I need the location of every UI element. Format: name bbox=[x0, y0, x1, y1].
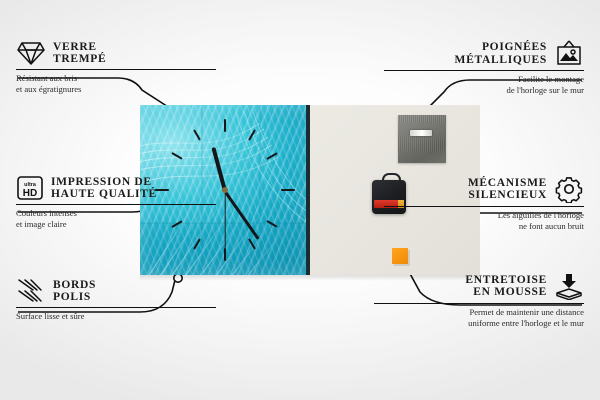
feature-title-line1: POIGNÉES bbox=[455, 41, 547, 54]
feature-title-line2: SILENCIEUX bbox=[468, 189, 547, 202]
feature-rule bbox=[16, 69, 216, 70]
feature-subtitle-line2: ne font aucun bruit bbox=[384, 221, 584, 231]
hour-marker-12 bbox=[224, 119, 226, 132]
feature-title-line2: EN MOUSSE bbox=[465, 286, 547, 299]
hour-marker-3 bbox=[281, 189, 295, 191]
feature-impression-haute-qualite: ultra HD IMPRESSION DE HAUTE QUALITÉ Cou… bbox=[16, 175, 216, 229]
feature-title-line2: MÉTALLIQUES bbox=[455, 54, 547, 67]
hanging-picture-frame-icon bbox=[554, 40, 584, 67]
feature-title-line1: VERRE bbox=[53, 41, 106, 54]
feature-title-line1: MÉCANISME bbox=[468, 177, 547, 190]
hanger-keyhole-slot bbox=[410, 130, 432, 136]
feature-subtitle-line1: Permet de maintenir une distance bbox=[374, 307, 584, 317]
feature-title-line2: TREMPÉ bbox=[53, 53, 106, 66]
feature-subtitle-line2: de l'horloge sur le mur bbox=[384, 85, 584, 95]
ultra-hd-badge-bottom: HD bbox=[23, 188, 37, 199]
feature-mecanisme-silencieux: MÉCANISME SILENCIEUX Les aiguilles de l'… bbox=[384, 175, 584, 231]
feature-title-line1: BORDS bbox=[53, 279, 96, 292]
feature-rule bbox=[374, 303, 584, 304]
feature-rule bbox=[384, 70, 584, 71]
feature-bords-polis: BORDS POLIS Surface lisse et sûre bbox=[16, 278, 216, 322]
metal-hanger-plate bbox=[398, 115, 446, 163]
feature-entretoise-en-mousse: ENTRETOISE EN MOUSSE Permet de maintenir… bbox=[374, 272, 584, 328]
feature-poignees-metalliques: POIGNÉES MÉTALLIQUES Facilite le montage… bbox=[384, 40, 584, 95]
feature-subtitle-line1: Facilite le montage bbox=[384, 74, 584, 84]
feature-rule bbox=[16, 307, 216, 308]
feature-subtitle-line1: Couleurs intenses bbox=[16, 208, 216, 218]
clock-center-cap bbox=[222, 187, 228, 193]
diamond-icon bbox=[16, 40, 46, 66]
feature-subtitle-line2: et image claire bbox=[16, 219, 216, 229]
feature-title-line1: IMPRESSION DE bbox=[51, 176, 157, 189]
infographic-canvas: VERRE TREMPÉ Résistant aux bris et aux é… bbox=[0, 0, 600, 400]
feature-title-line1: ENTRETOISE bbox=[465, 274, 547, 287]
feature-rule bbox=[384, 206, 584, 207]
feature-rule bbox=[16, 204, 216, 205]
second-hand bbox=[224, 191, 225, 253]
feature-title-line2: POLIS bbox=[53, 291, 96, 304]
polished-edge-lines-icon bbox=[16, 278, 46, 304]
feature-subtitle-line1: Résistant aux bris bbox=[16, 73, 216, 83]
gear-icon bbox=[554, 175, 584, 203]
feature-subtitle-line1: Surface lisse et sûre bbox=[16, 311, 216, 321]
foam-spacer bbox=[392, 248, 408, 264]
feature-subtitle-line2: et aux égratignures bbox=[16, 84, 216, 94]
feature-subtitle-line1: Les aiguilles de l'horloge bbox=[384, 210, 584, 220]
feature-subtitle-line2: uniforme entre l'horloge et le mur bbox=[374, 318, 584, 328]
ultra-hd-badge-icon: ultra HD bbox=[16, 175, 44, 201]
feature-title-line2: HAUTE QUALITÉ bbox=[51, 188, 157, 201]
foam-spacer-press-icon bbox=[554, 272, 584, 300]
feature-verre-trempe: VERRE TREMPÉ Résistant aux bris et aux é… bbox=[16, 40, 216, 94]
